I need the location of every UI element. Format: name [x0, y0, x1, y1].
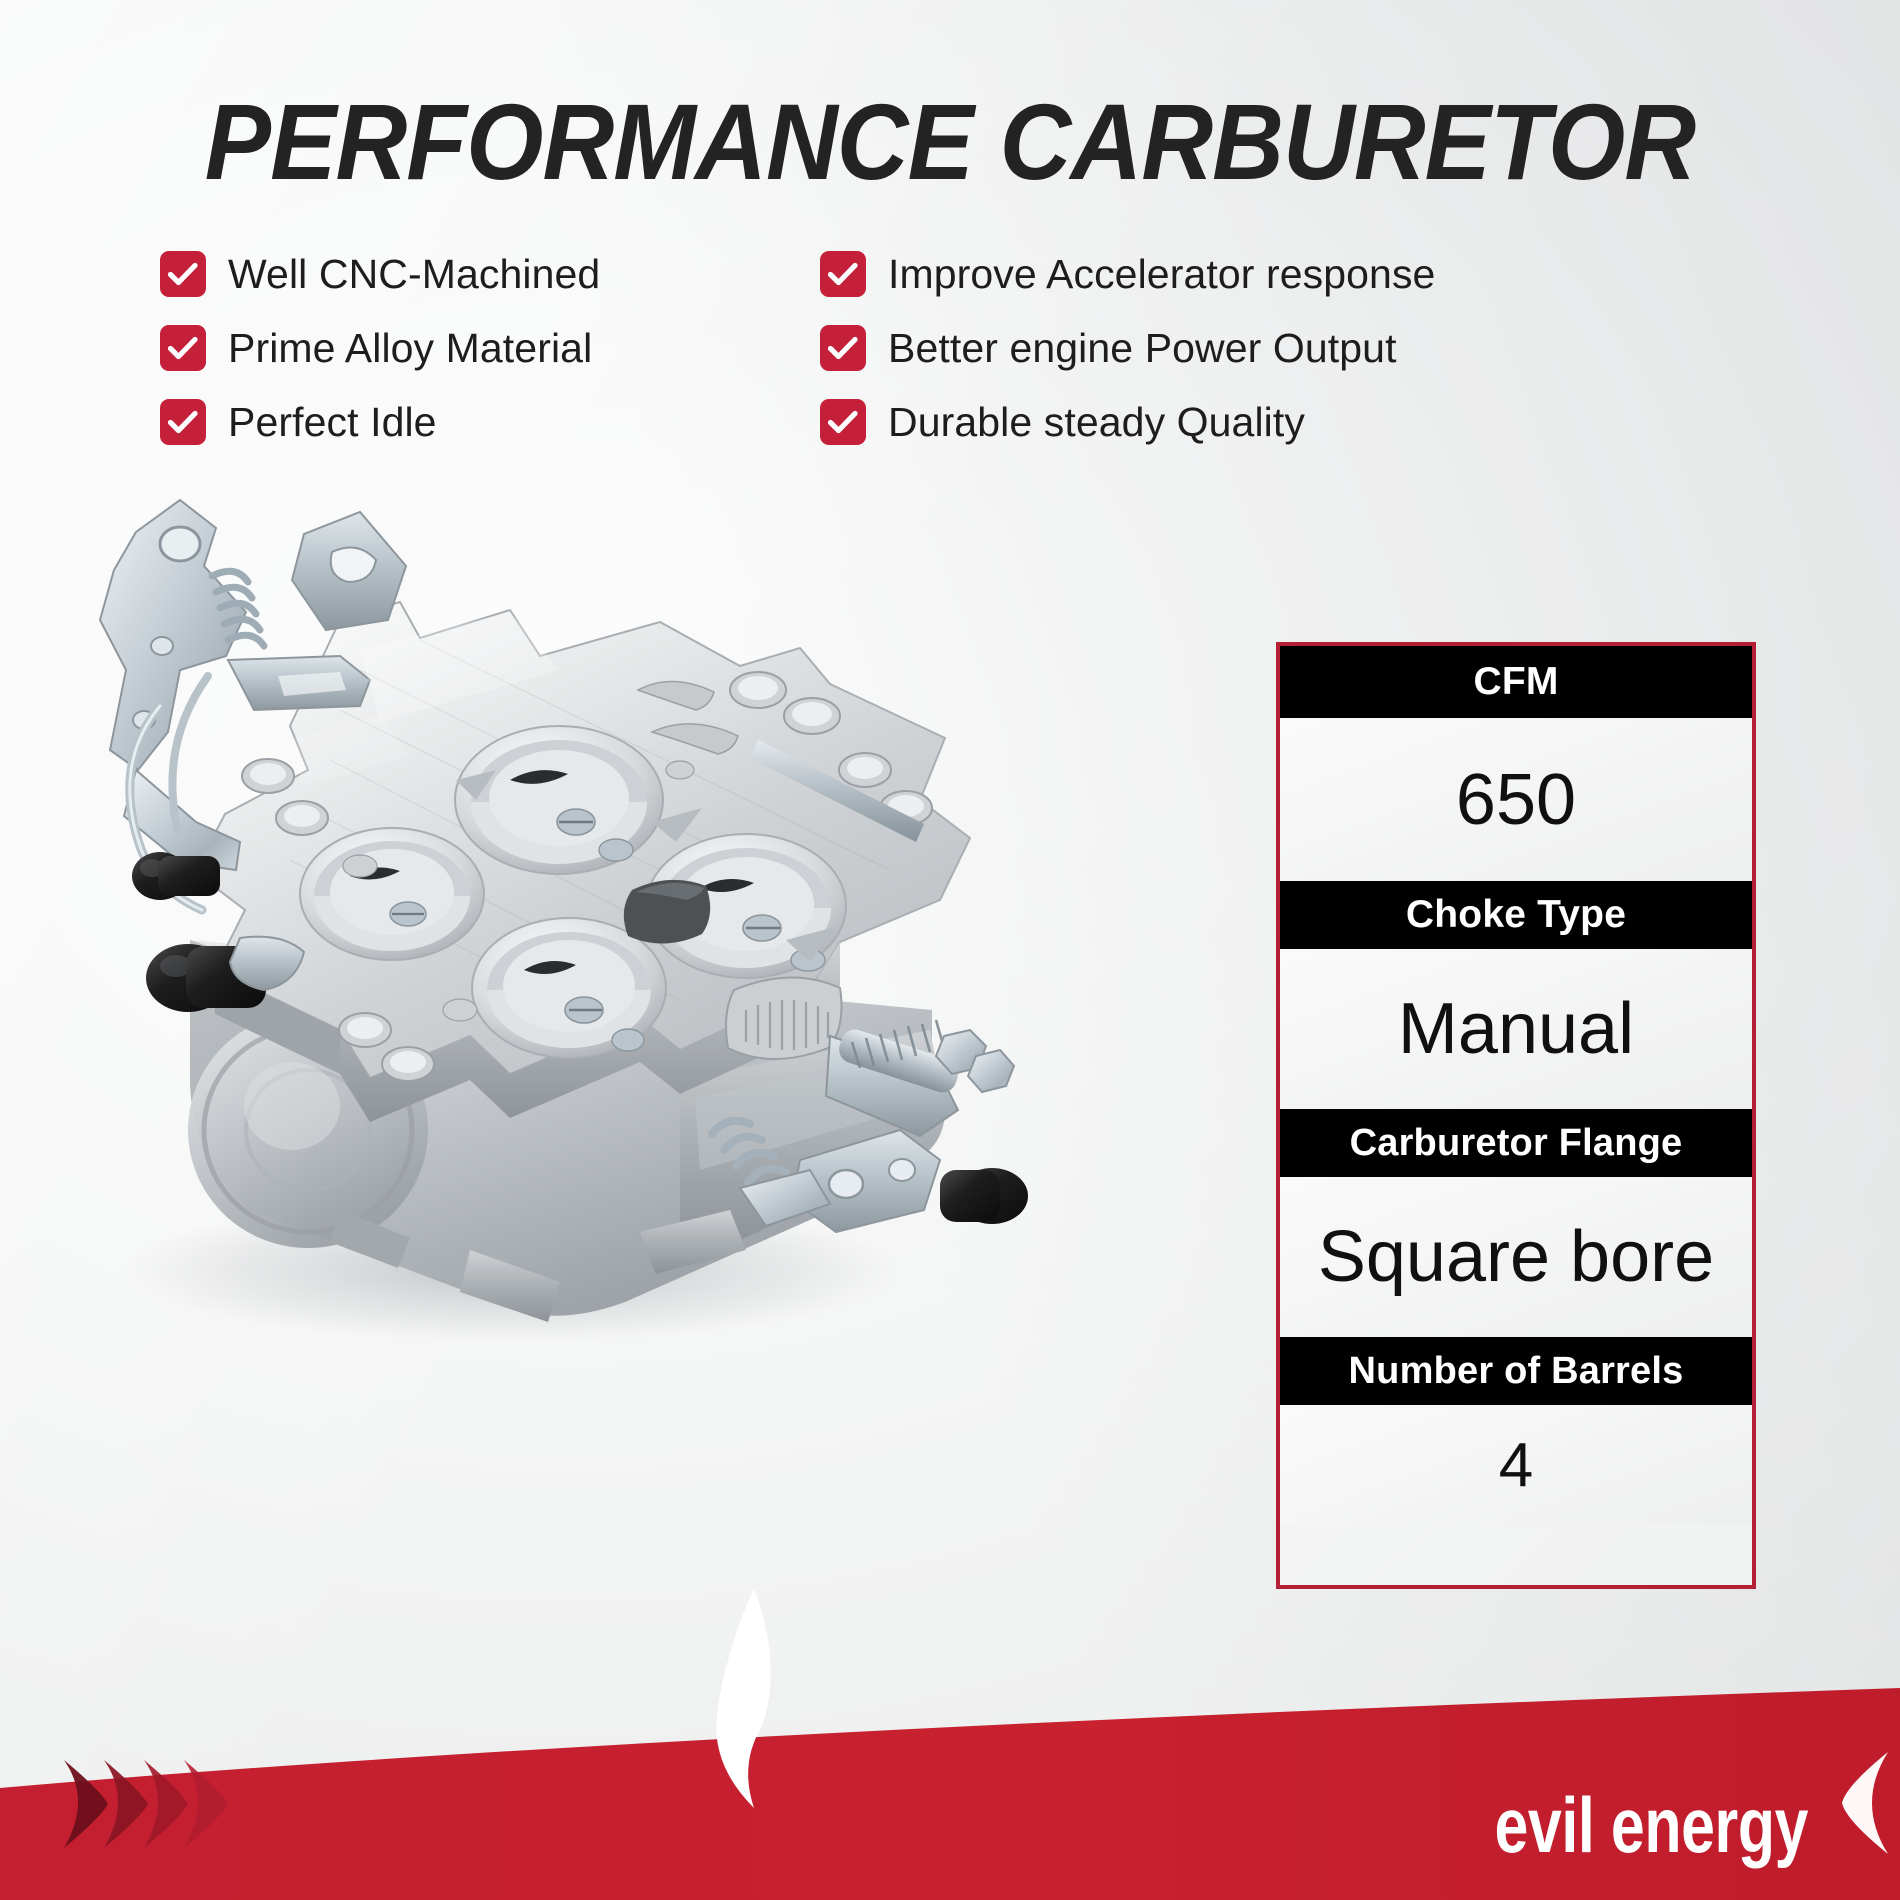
spec-header-choke-type: Choke Type — [1280, 881, 1752, 949]
flame-icon — [0, 1588, 1704, 1808]
feature-item: Improve Accelerator response — [820, 248, 1480, 300]
feature-label: Perfect Idle — [228, 399, 437, 446]
feature-item: Well CNC-Machined — [160, 248, 820, 300]
checkmark-icon — [820, 325, 866, 371]
feature-column-left: Well CNC-Machined Prime Alloy Material P… — [160, 248, 820, 448]
feature-label: Better engine Power Output — [888, 325, 1397, 372]
specification-table: CFM 650 Choke Type Manual Carburetor Fla… — [1276, 642, 1756, 1589]
feature-label: Well CNC-Machined — [228, 251, 600, 298]
checkmark-icon — [160, 399, 206, 445]
feature-label: Improve Accelerator response — [888, 251, 1435, 298]
feature-item: Durable steady Quality — [820, 396, 1480, 448]
feature-label: Prime Alloy Material — [228, 325, 592, 372]
spec-header-cfm: CFM — [1280, 646, 1752, 718]
spec-header-carburetor-flange: Carburetor Flange — [1280, 1109, 1752, 1177]
spec-value-number-of-barrels: 4 — [1280, 1405, 1752, 1525]
checkmark-icon — [820, 399, 866, 445]
feature-item: Perfect Idle — [160, 396, 820, 448]
feature-item: Better engine Power Output — [820, 322, 1480, 374]
spec-value-carburetor-flange: Square bore — [1280, 1177, 1752, 1337]
chevron-left-icon — [1842, 1748, 1896, 1858]
checkmark-icon — [820, 251, 866, 297]
feature-list: Well CNC-Machined Prime Alloy Material P… — [160, 248, 1480, 448]
footer-banner: evil energy — [0, 1680, 1900, 1900]
feature-item: Prime Alloy Material — [160, 322, 820, 374]
feature-label: Durable steady Quality — [888, 399, 1305, 446]
spec-header-number-of-barrels: Number of Barrels — [1280, 1337, 1752, 1405]
spec-value-choke-type: Manual — [1280, 949, 1752, 1109]
feature-column-right: Improve Accelerator response Better engi… — [820, 248, 1480, 448]
carburetor-photo — [40, 470, 1050, 1370]
checkmark-icon — [160, 251, 206, 297]
page-title: PERFORMANCE CARBURETOR — [76, 88, 1824, 196]
checkmark-icon — [160, 325, 206, 371]
spec-value-cfm: 650 — [1280, 718, 1752, 881]
